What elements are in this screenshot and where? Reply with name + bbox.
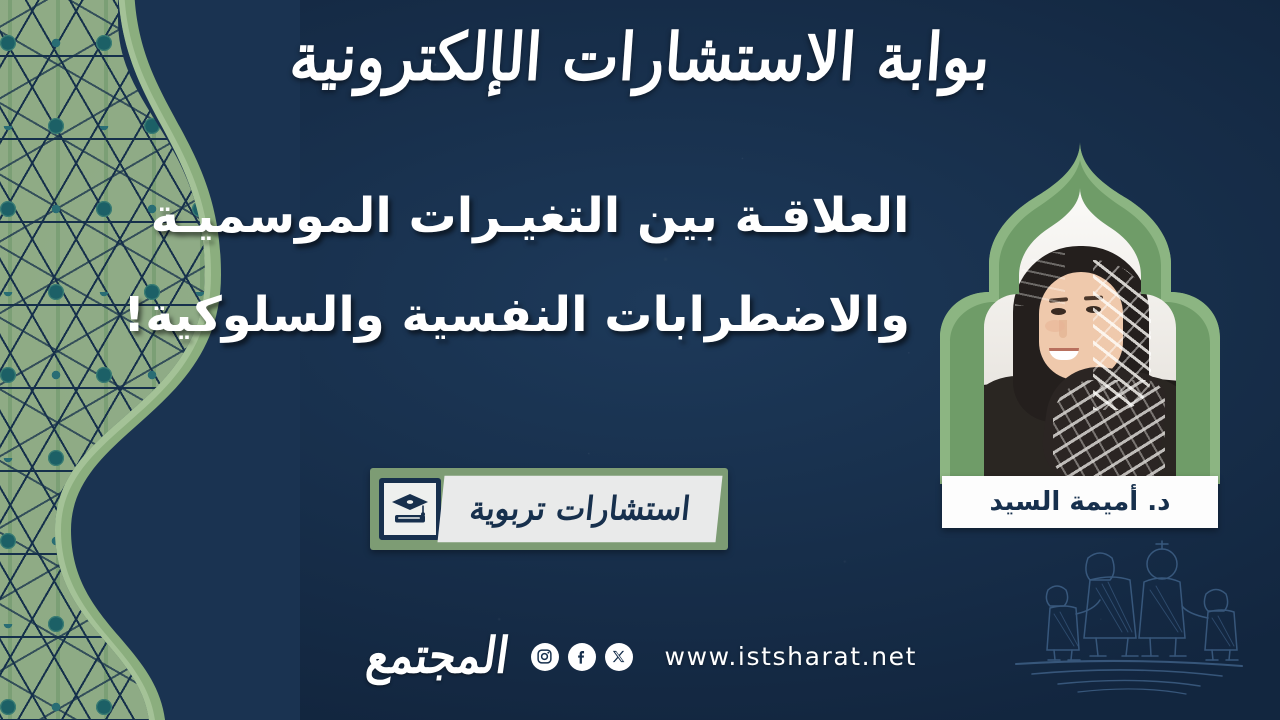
website-url: www.istsharat.net [665,642,918,671]
x-icon[interactable] [605,643,633,671]
title-line-2: والاضطرابات النفسية والسلوكية! [150,285,910,346]
instagram-icon[interactable] [531,643,559,671]
mujtama-logo: المجتمع [363,628,513,685]
facebook-icon[interactable] [568,643,596,671]
category-badge[interactable]: استشارات تربوية [370,468,728,550]
portal-title-calligraphy: بوابة الاستشارات الإلكترونية [0,19,1280,97]
promo-card: بوابة الاستشارات الإلكترونية العلاقـة بي… [0,0,1280,720]
category-badge-label: استشارات تربوية [438,476,723,543]
graduation-cap-book-icon [379,478,441,540]
speaker-portrait: د. أميمة السيد [930,142,1230,532]
footer-bar: المجتمع www.istsharat.net [0,631,1280,682]
title-line-1: العلاقـة بين التغيـرات الموسميـة [150,186,910,247]
left-ornament-panel [0,0,300,720]
speaker-nameplate: د. أميمة السيد [942,476,1218,528]
social-links [531,643,633,671]
speaker-name: د. أميمة السيد [990,487,1171,517]
episode-title: العلاقـة بين التغيـرات الموسميـة والاضطر… [150,186,910,347]
